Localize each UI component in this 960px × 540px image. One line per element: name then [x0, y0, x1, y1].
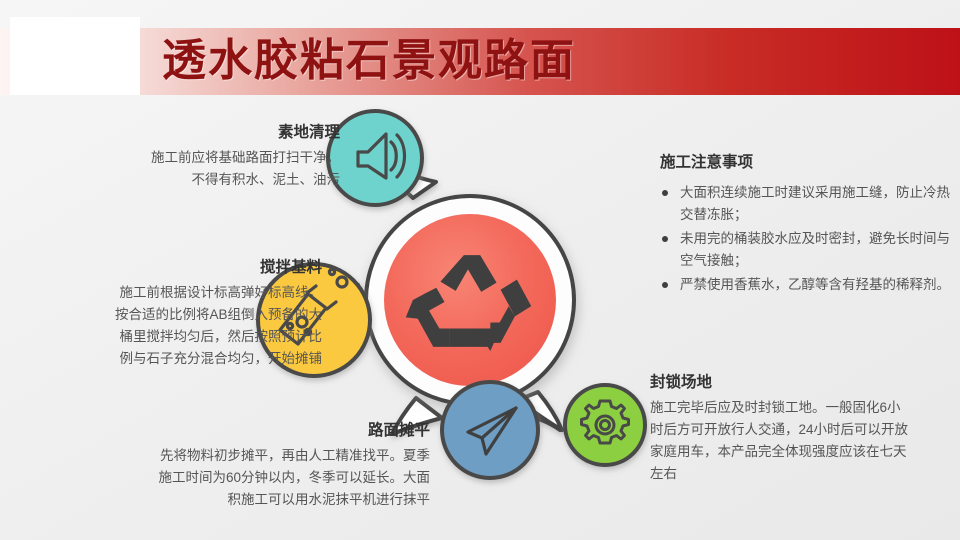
block-zhuyi-heading: 施工注意事项 [660, 152, 950, 174]
block-tanping-line-1: 先将物料初步摊平，再由人工精准找平。夏季 [100, 445, 430, 467]
block-sudi-heading: 素地清理 [90, 122, 340, 144]
block-fengsuo-line-4: 左右 [650, 463, 950, 485]
block-sudi: 素地清理 施工前应将基础路面打扫干净， 不得有积水、泥土、油污 [90, 122, 340, 191]
slide-canvas: 透水胶粘石景观路面 [0, 0, 960, 540]
center-circle[interactable] [384, 214, 556, 386]
block-fengsuo-heading: 封锁场地 [650, 372, 950, 394]
block-jiaoban: 搅拌基料 施工前根据设计标高弹好标高线。 按合适的比例将AB组倒入预备的大 桶里… [22, 257, 322, 370]
block-zhuyi-bullet-3: 严禁使用香蕉水，乙醇等含有羟基的稀释剂。 [680, 277, 950, 292]
block-jiaoban-line-3: 桶里搅拌均匀后，然后按照预计比 [22, 326, 322, 348]
block-jiaoban-line-4: 例与石子充分混合均匀，开始摊铺 [22, 348, 322, 370]
block-zhuyi-bullet-1: 大面积连续施工时建议采用施工缝，防止冷热交替冻胀； [680, 185, 950, 222]
page-title: 透水胶粘石景观路面 [162, 29, 576, 93]
block-tanping-heading: 路面摊平 [100, 420, 430, 442]
list-item: 大面积连续施工时建议采用施工缝，防止冷热交替冻胀； [660, 182, 950, 226]
block-zhuyi-bullet-2: 未用完的桶装胶水应及时密封，避免长时间与空气接触； [680, 231, 950, 268]
bullet-dot-icon [662, 236, 668, 242]
bullet-dot-icon [662, 282, 668, 288]
block-fengsuo-line-1: 施工完毕后应及时封锁工地。一般固化6小 [650, 397, 950, 419]
block-tanping-line-2: 施工时间为60分钟以内，冬季可以延长。大面 [100, 467, 430, 489]
block-jiaoban-line-1: 施工前根据设计标高弹好标高线。 [22, 282, 322, 304]
block-sudi-line-2: 不得有积水、泥土、油污 [90, 169, 340, 191]
block-sudi-line-1: 施工前应将基础路面打扫干净， [90, 147, 340, 169]
list-item: 未用完的桶装胶水应及时密封，避免长时间与空气接触； [660, 228, 950, 272]
list-item: 严禁使用香蕉水，乙醇等含有羟基的稀释剂。 [660, 274, 950, 296]
node-paper-plane[interactable] [442, 382, 538, 478]
node-megaphone[interactable] [328, 111, 422, 205]
block-fengsuo-line-3: 家庭用车，本产品完全体现强度应该在七天 [650, 441, 950, 463]
block-fengsuo: 封锁场地 施工完毕后应及时封锁工地。一般固化6小 时后方可开放行人交通，24小时… [650, 372, 950, 485]
block-jiaoban-heading: 搅拌基料 [22, 257, 322, 279]
block-jiaoban-line-2: 按合适的比例将AB组倒入预备的大 [22, 304, 322, 326]
block-zhuyi-list: 大面积连续施工时建议采用施工缝，防止冷热交替冻胀； 未用完的桶装胶水应及时密封，… [660, 182, 950, 296]
block-zhuyi: 施工注意事项 大面积连续施工时建议采用施工缝，防止冷热交替冻胀； 未用完的桶装胶… [660, 152, 950, 298]
node-gear[interactable] [565, 385, 645, 465]
block-tanping: 路面摊平 先将物料初步摊平，再由人工精准找平。夏季 施工时间为60分钟以内，冬季… [100, 420, 430, 511]
block-tanping-line-3: 积施工可以用水泥抹平机进行抹平 [100, 489, 430, 511]
title-white-block [10, 17, 140, 95]
block-fengsuo-line-2: 时后方可开放行人交通，24小时后可以开放 [650, 419, 950, 441]
bullet-dot-icon [662, 190, 668, 196]
